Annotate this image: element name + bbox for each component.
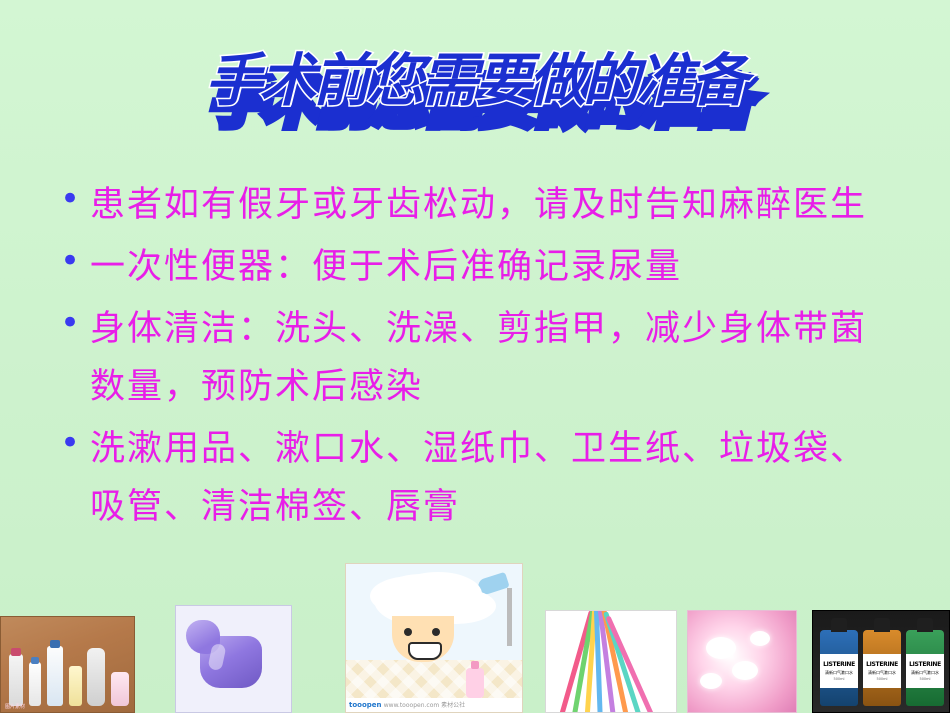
list-item-text: 洗漱用品、漱口水、湿纸巾、卫生纸、垃圾袋、吸管、清洁棉签、唇膏	[90, 420, 898, 536]
bottle-line2: 清新口气漱口水	[911, 670, 939, 676]
list-item-text: 身体清洁：洗头、洗澡、剪指甲，减少身体带菌数量，预防术后感染	[90, 300, 898, 416]
cotton-swabs-photo	[687, 610, 797, 713]
urinal-shape	[200, 636, 262, 688]
bottle-brand: LISTERINE	[866, 661, 898, 668]
urinal-bottle-photo	[175, 605, 292, 713]
bottle-line3: 500ml	[833, 677, 844, 681]
title-area: 手术前您需要做的准备 手术前您需要做的准备	[0, 52, 950, 132]
mouthwash-bottles-photo: LISTERINE 清新口气漱口水 500ml LISTERINE 清新口气漱口…	[812, 610, 950, 713]
list-item: • 洗漱用品、漱口水、湿纸巾、卫生纸、垃圾袋、吸管、清洁棉签、唇膏	[52, 420, 898, 536]
footer-note: www.tooopen.com 素材公社	[384, 702, 465, 709]
bottle-1: LISTERINE 清新口气漱口水 500ml	[820, 630, 858, 706]
slide: 手术前您需要做的准备 手术前您需要做的准备 • 患者如有假牙或牙齿松动，请及时告…	[0, 0, 950, 713]
shampoo-bottle-icon	[466, 668, 484, 698]
list-item: • 身体清洁：洗头、洗澡、剪指甲，减少身体带菌数量，预防术后感染	[52, 300, 898, 416]
page-title: 手术前您需要做的准备	[205, 52, 745, 112]
bottle-2: LISTERINE 清新口气漱口水 500ml	[863, 630, 901, 706]
list-item: • 一次性便器：便于术后准确记录尿量	[52, 238, 898, 296]
bullet-marker-icon: •	[52, 238, 90, 284]
list-item-text: 一次性便器：便于术后准确记录尿量	[90, 238, 898, 296]
drinking-straws-photo	[545, 610, 677, 713]
bottle-brand: LISTERINE	[823, 661, 855, 668]
bullet-marker-icon: •	[52, 300, 90, 346]
hair-washing-cartoon: tooopen www.tooopen.com 素材公社	[345, 563, 523, 713]
bullet-marker-icon: •	[52, 176, 90, 222]
image-footer: tooopen www.tooopen.com 素材公社	[346, 698, 522, 712]
bottle-3: LISTERINE 清新口气漱口水 500ml	[906, 630, 944, 706]
bottle-brand: LISTERINE	[909, 661, 941, 668]
bottle-line2: 清新口气漱口水	[868, 670, 896, 676]
bullet-marker-icon: •	[52, 420, 90, 466]
footer-brand: tooopen	[346, 701, 382, 709]
bottle-line3: 500ml	[876, 677, 887, 681]
bottle-line3: 500ml	[919, 677, 930, 681]
image-strip: 图片素材 tooopen www.tooopen.com 素材公社	[0, 563, 950, 713]
toiletries-watermark: 图片素材	[5, 703, 25, 710]
list-item-text: 患者如有假牙或牙齿松动，请及时告知麻醉医生	[90, 176, 898, 234]
toiletries-photo: 图片素材	[0, 616, 135, 713]
bullet-list: • 患者如有假牙或牙齿松动，请及时告知麻醉医生 • 一次性便器：便于术后准确记录…	[52, 176, 898, 540]
list-item: • 患者如有假牙或牙齿松动，请及时告知麻醉医生	[52, 176, 898, 234]
bottle-line2: 清新口气漱口水	[825, 670, 853, 676]
